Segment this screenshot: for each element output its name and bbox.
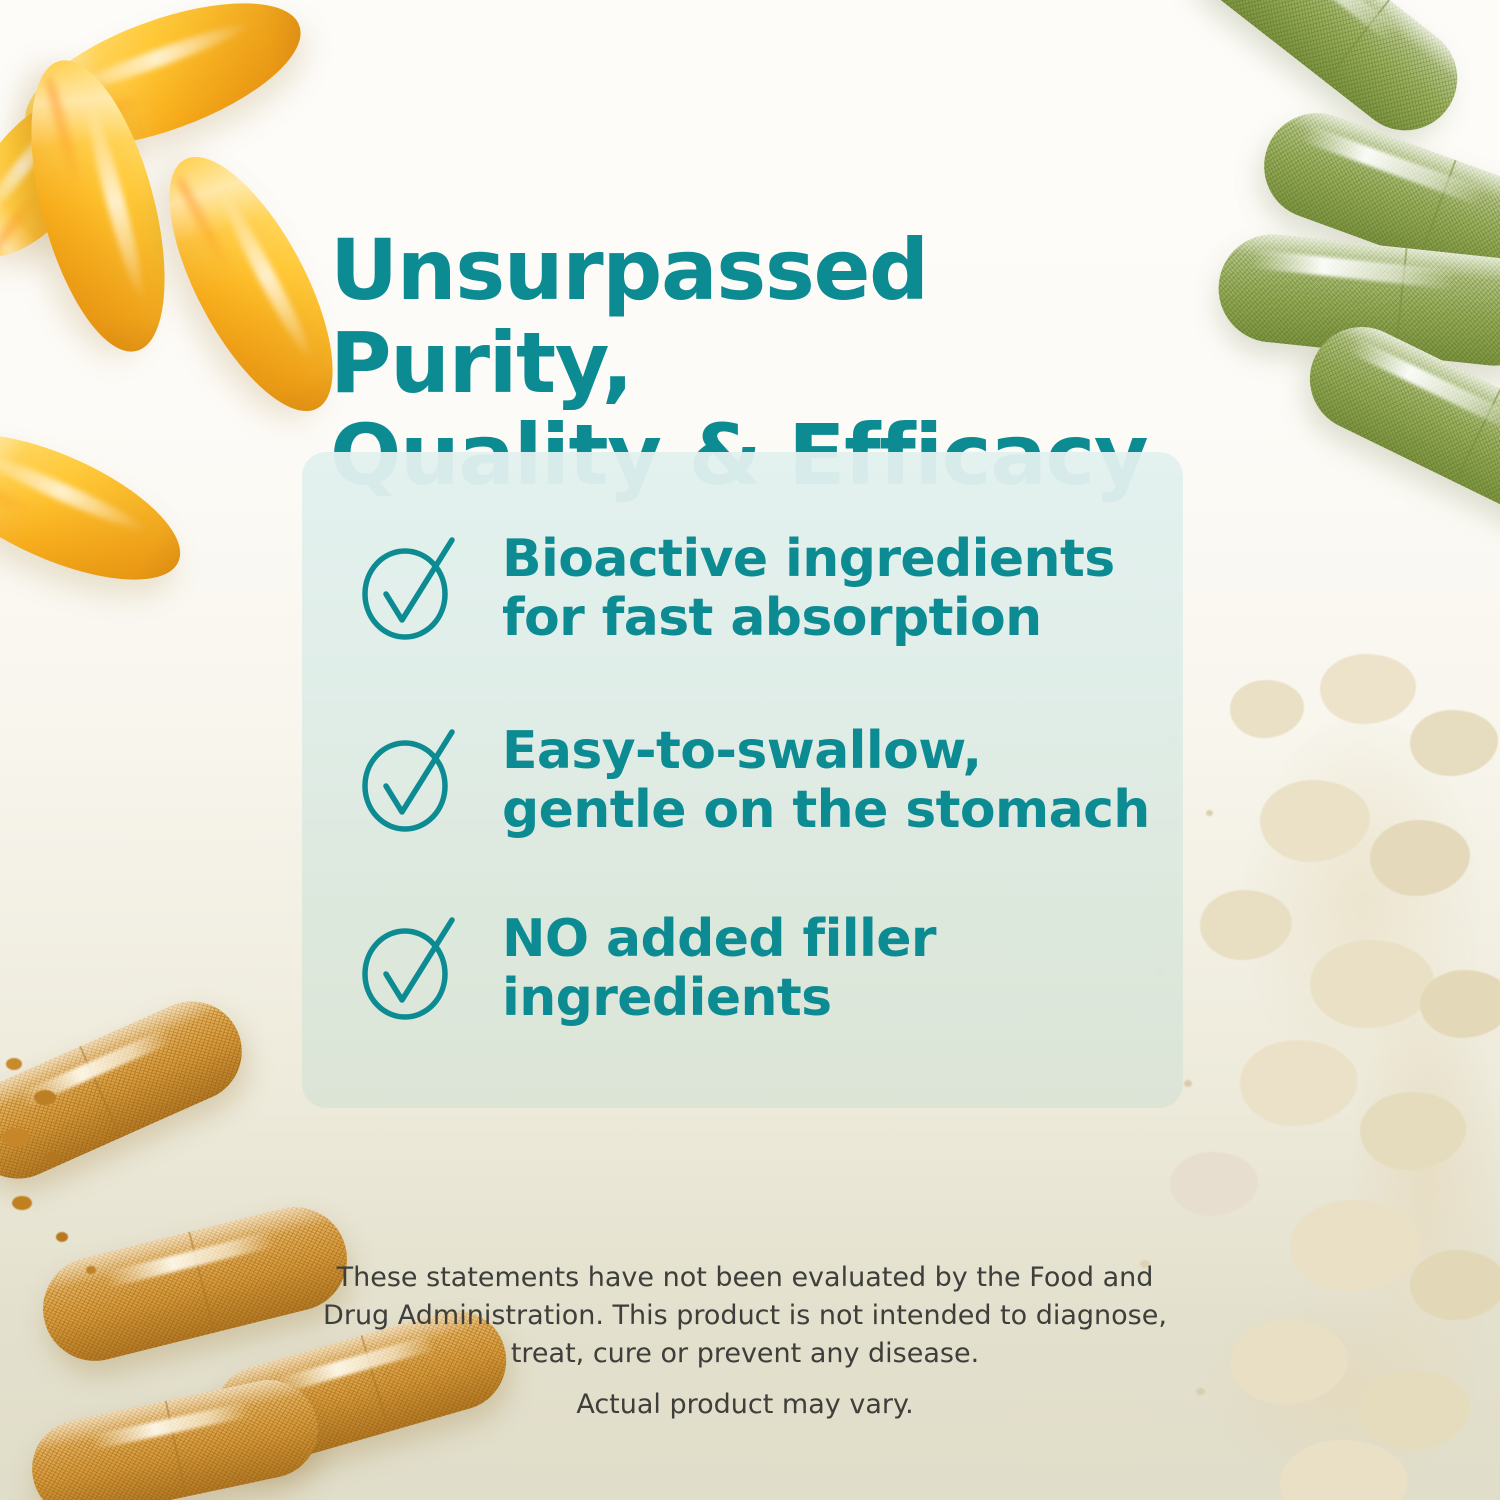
benefit-label: Easy-to-swallow, gentle on the stomach: [502, 722, 1150, 840]
benefit-item: NO added filler ingredients: [360, 910, 936, 1028]
turmeric-capsule: [0, 985, 258, 1194]
circle-check-icon: [360, 534, 458, 640]
softgel-capsule: [0, 72, 131, 281]
benefit-item: Bioactive ingredients for fast absorptio…: [360, 530, 1115, 648]
benefit-label: NO added filler ingredients: [502, 910, 936, 1028]
benefits-panel: Bioactive ingredients for fast absorptio…: [302, 452, 1183, 1108]
softgel-capsule: [5, 47, 191, 366]
benefit-item: Easy-to-swallow, gentle on the stomach: [360, 722, 1150, 840]
turmeric-capsule: [23, 1371, 327, 1500]
benefit-label: Bioactive ingredients for fast absorptio…: [502, 530, 1115, 648]
product-benefits-infographic: Unsurpassed Purity, Quality & Efficacy B…: [0, 0, 1500, 1500]
green-capsule: [1178, 0, 1478, 151]
green-capsule: [1249, 98, 1500, 304]
circle-check-icon: [360, 726, 458, 832]
product-variance-note: Actual product may vary.: [300, 1389, 1190, 1420]
green-capsule: [1213, 229, 1500, 371]
green-capsule: [1292, 310, 1500, 535]
circle-check-icon: [360, 914, 458, 1020]
softgel-capsule: [0, 405, 199, 610]
page-title-line-1: Unsurpassed Purity,: [330, 221, 928, 411]
softgel-capsule: [8, 0, 318, 176]
fda-disclaimer: These statements have not been evaluated…: [300, 1259, 1190, 1372]
